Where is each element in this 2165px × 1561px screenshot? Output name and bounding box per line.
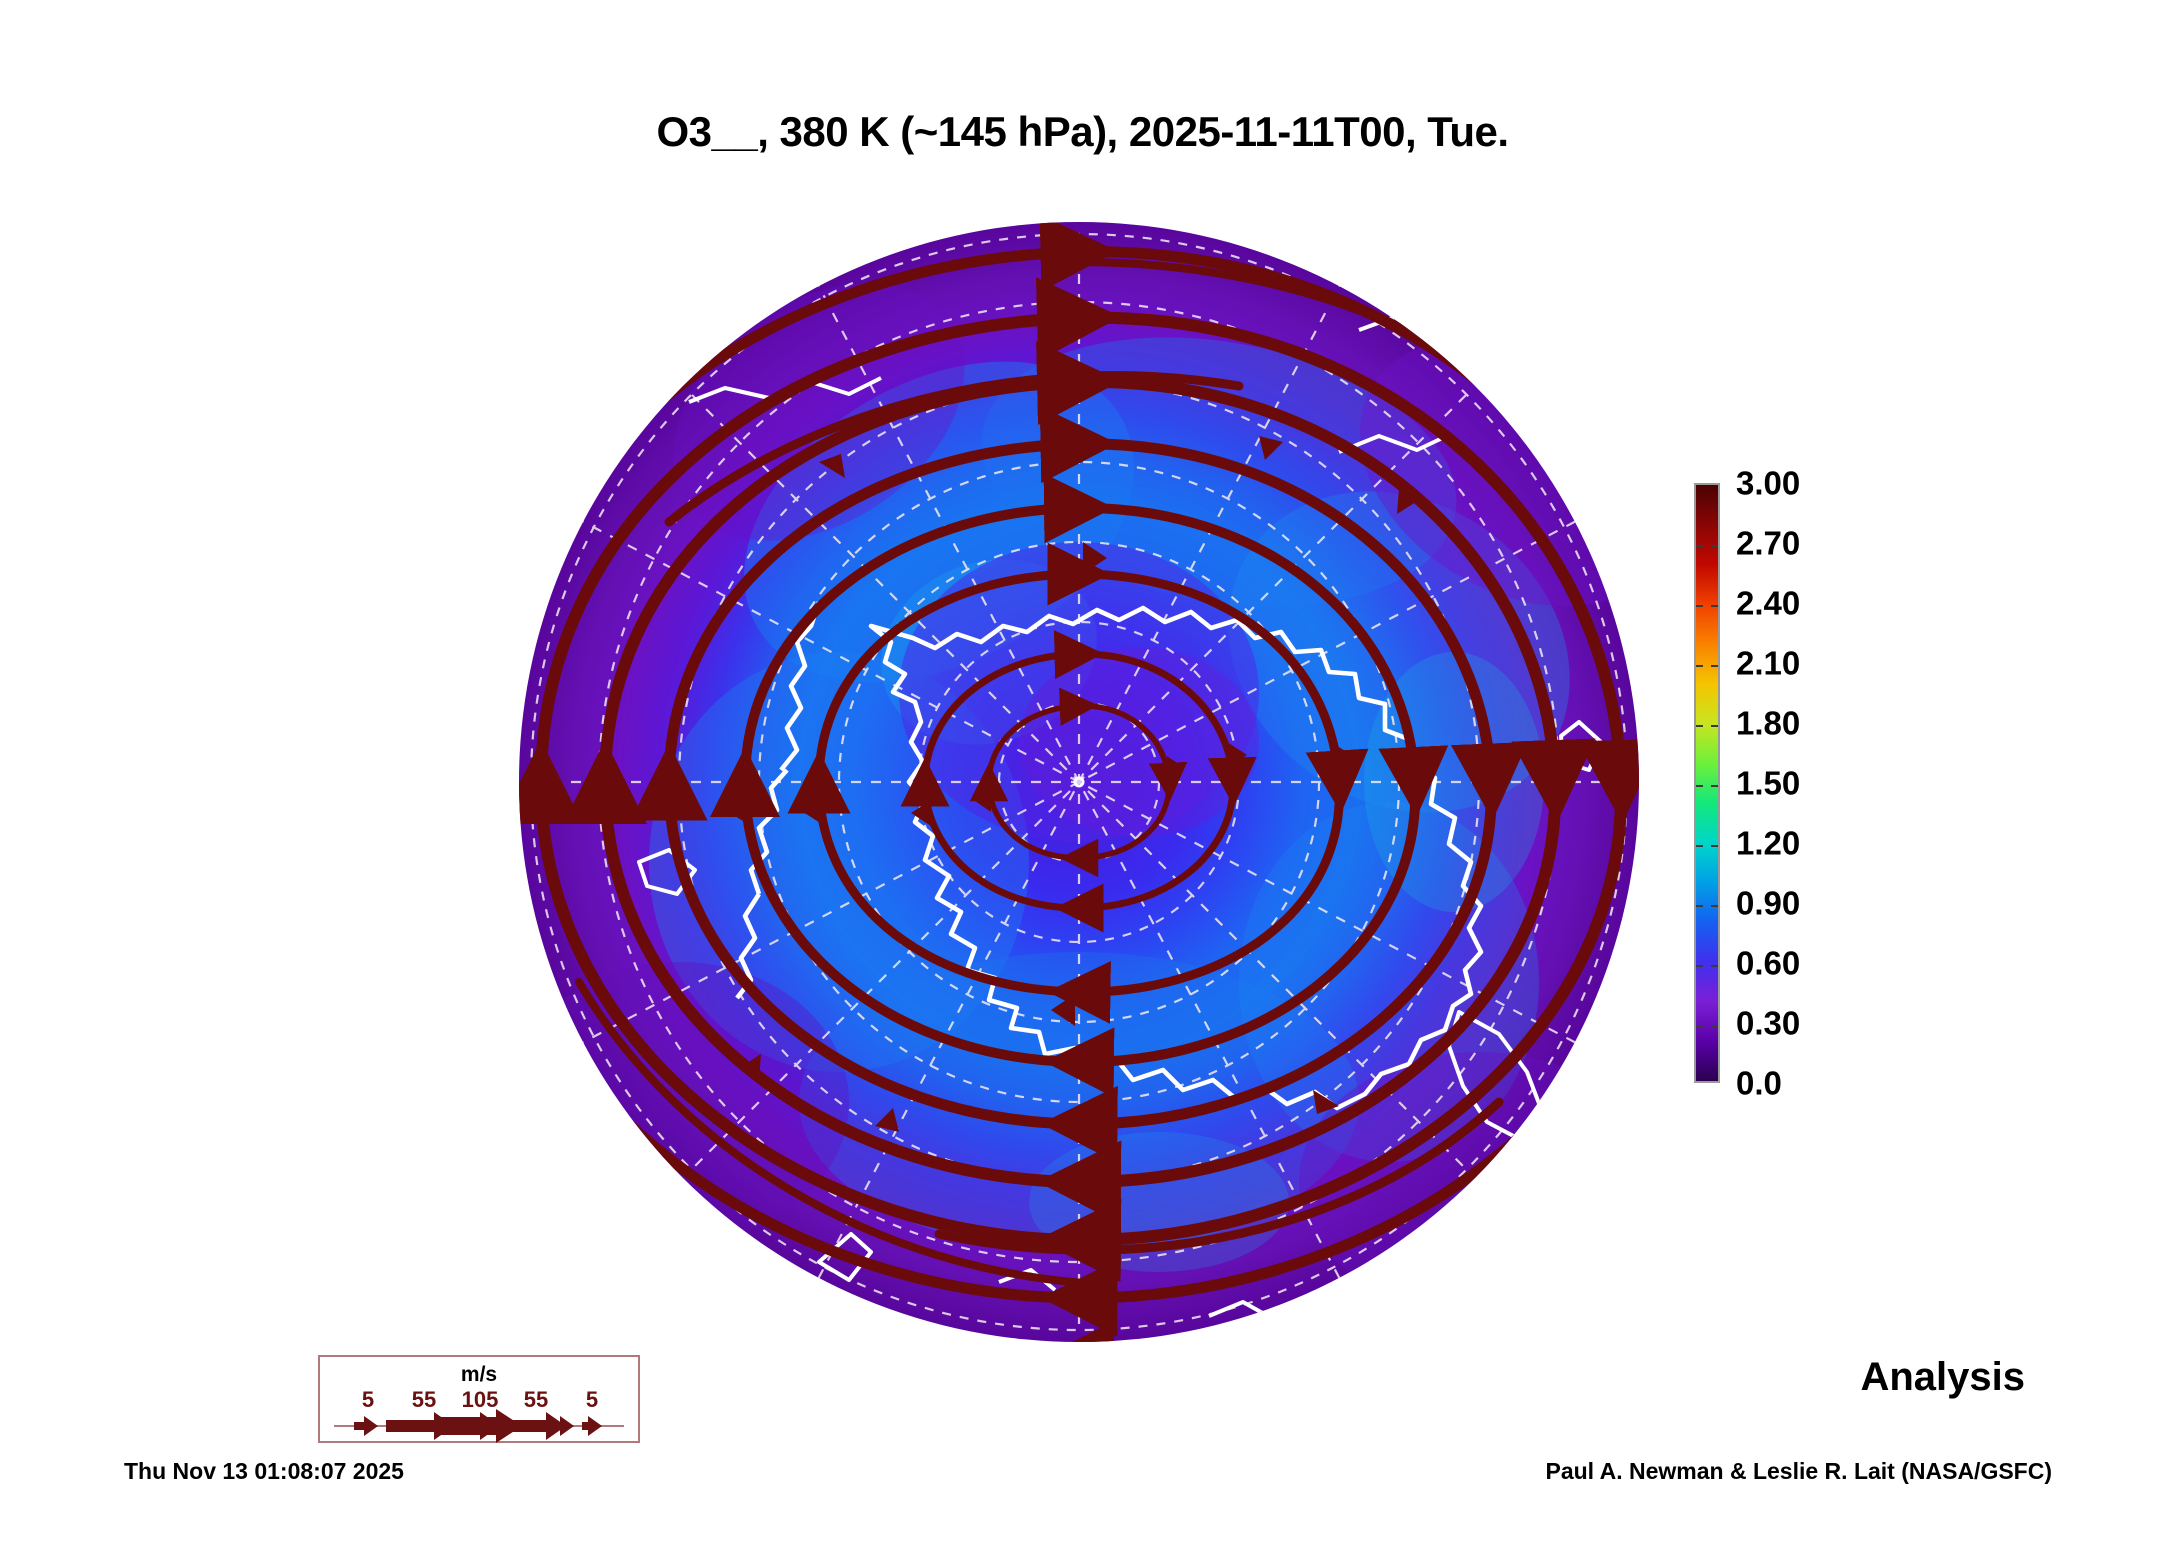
wind-legend-value: 5 — [362, 1387, 374, 1413]
colorbar-tick — [1711, 905, 1718, 907]
colorbar-tick — [1696, 905, 1703, 907]
render-timestamp: Thu Nov 13 01:08:07 2025 — [124, 1458, 404, 1485]
map-contents — [519, 222, 1639, 1342]
wind-legend-value: 5 — [586, 1387, 598, 1413]
colorbar-tick-label: 0.90 — [1736, 887, 1800, 920]
wind-legend-value: 55 — [412, 1387, 436, 1413]
colorbar-tick — [1711, 845, 1718, 847]
colorbar-tick — [1696, 725, 1703, 727]
colorbar-tick — [1711, 605, 1718, 607]
colorbar-tick — [1696, 1025, 1703, 1027]
colorbar-labels: 3.002.702.402.101.801.501.200.900.600.30… — [1736, 483, 1876, 1083]
wind-legend-units: m/s — [320, 1363, 638, 1387]
colorbar-tick — [1696, 665, 1703, 667]
colorbar-tick — [1696, 545, 1703, 547]
polar-map — [519, 222, 1639, 1342]
wind-legend-arrows — [320, 1409, 638, 1443]
polar-map-svg — [519, 222, 1639, 1342]
colorbar-tick-label: 0.30 — [1736, 1007, 1800, 1040]
colorbar-tick — [1711, 785, 1718, 787]
colorbar-tick-label: 1.80 — [1736, 707, 1800, 740]
colorbar-tick-label: 2.40 — [1736, 587, 1800, 620]
colorbar-tick-label: 2.70 — [1736, 527, 1800, 560]
colorbar-tick — [1696, 605, 1703, 607]
author-credit: Paul A. Newman & Leslie R. Lait (NASA/GS… — [1545, 1458, 2052, 1485]
colorbar-ticks — [1696, 485, 1718, 1081]
wind-speed-legend: m/s 555105555 — [318, 1355, 640, 1443]
colorbar-tick-label: 0.0 — [1736, 1067, 1782, 1100]
colorbar-tick — [1696, 785, 1703, 787]
wind-legend-value: 105 — [462, 1387, 499, 1413]
colorbar-tick — [1711, 725, 1718, 727]
colorbar-tick-label: 1.50 — [1736, 767, 1800, 800]
analysis-label: Analysis — [1860, 1355, 2025, 1400]
colorbar-tick-label: 3.00 — [1736, 467, 1800, 500]
colorbar-tick — [1711, 665, 1718, 667]
colorbar-tick — [1711, 965, 1718, 967]
colorbar — [1694, 483, 1720, 1083]
colorbar-tick — [1696, 845, 1703, 847]
colorbar-tick — [1711, 545, 1718, 547]
wind-legend-value: 55 — [524, 1387, 548, 1413]
colorbar-tick-label: 0.60 — [1736, 947, 1800, 980]
colorbar-tick — [1711, 1025, 1718, 1027]
colorbar-tick-label: 2.10 — [1736, 647, 1800, 680]
colorbar-tick-label: 1.20 — [1736, 827, 1800, 860]
colorbar-tick — [1696, 965, 1703, 967]
page-title: O3__, 380 K (~145 hPa), 2025-11-11T00, T… — [0, 108, 2165, 156]
